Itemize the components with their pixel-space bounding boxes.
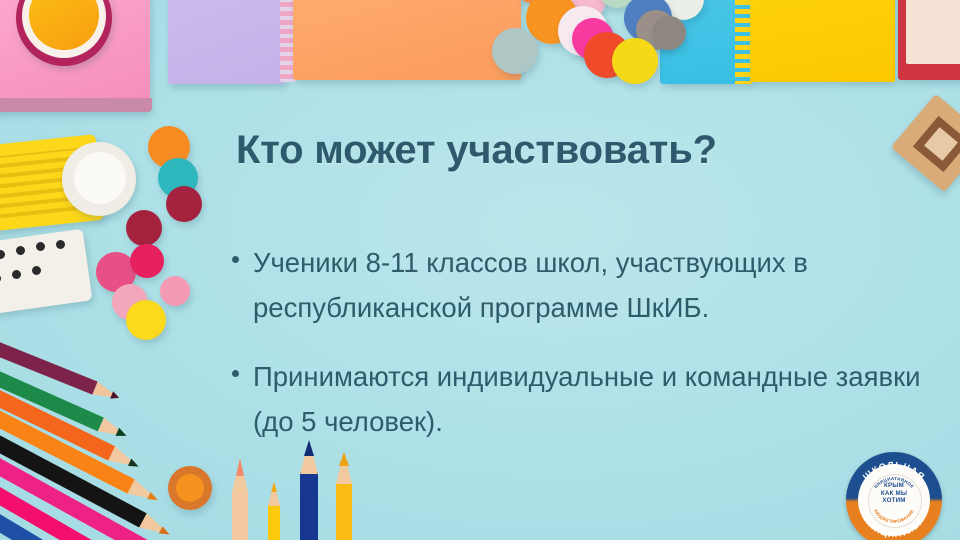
disc-crimson-left [130,244,164,278]
disc-orange-left [148,126,190,168]
cup-rim [22,0,106,58]
yellow-tray-ridges [0,147,93,219]
disc-sage [492,28,538,74]
list-item: Принимаются индивидуальные и командные з… [232,354,932,444]
disc-orange-small [516,0,552,4]
logo-center-text: КРЫМ КАК МЫ ХОТИМ [846,482,942,505]
disc-lightpink-left [112,284,148,320]
disc-mint [598,0,636,8]
disc-offwhite [662,0,704,20]
svg-text:БЮДЖЕТИРОВАНИЕ: БЮДЖЕТИРОВАНИЕ [873,508,915,524]
cyan-notebook [660,0,752,84]
red-framed-card [898,0,960,80]
list-item-text: Ученики 8-11 классов школ, участвующих в… [253,240,932,330]
disc-maroon-left-2 [126,210,162,246]
logo-center-line-1: КРЫМ [846,482,942,490]
svg-text:ИНИЦИАТИВА: ИНИЦИАТИВА [862,515,927,540]
logo-center-line-3: ХОТИМ [846,497,942,505]
disc-rose-left [160,276,190,306]
orange-notebook [293,0,521,80]
paint-pot-outer [168,466,212,510]
pink-spiral-binding [280,0,296,82]
white-jar [62,142,136,216]
egg-tray-dot [56,240,65,249]
disc-white-green [556,0,596,6]
disc-yellow [612,38,658,84]
list-item: Ученики 8-11 классов школ, участвующих в… [232,240,932,330]
disc-teal-left [158,158,198,198]
purple-notebook [168,0,286,84]
white-jar-lid [74,152,126,204]
list-item-text: Принимаются индивидуальные и командные з… [253,354,932,444]
yellow-tray [0,134,104,232]
disc-orange [526,0,578,44]
disc-white-pink [558,6,608,56]
yellow-spiral-binding [735,0,752,84]
logo-center-line-2: КАК МЫ [846,490,942,498]
organization-logo: ШКОЛЬНАЯ ИНИЦИАТИВА ИНИЦИАТИВНОЕ БЮДЖЕТИ… [846,452,942,540]
disc-red [584,32,630,78]
cup-orange-drink [29,0,99,50]
disc-pink-left [96,252,136,292]
egg-tray-dot [12,270,21,279]
disc-grey-2 [652,16,686,50]
cream-card-inner [906,0,960,64]
bullet-list: Ученики 8-11 классов школ, участвующих в… [232,240,932,468]
yellow-notebook [750,0,895,82]
egg-tray-dot [36,242,45,251]
pink-notebook-edge [0,98,152,112]
egg-tray-dot [0,274,1,283]
page-title: Кто может участвовать? [236,128,936,173]
presentation-slide: Кто может участвовать? Ученики 8-11 клас… [0,0,960,540]
disc-pink-pale [566,0,606,20]
cup-outer [16,0,112,66]
egg-tray-dot [0,250,5,259]
bullet-point-icon [232,370,239,377]
disc-maroon-left [166,186,202,222]
egg-tray-dot [16,246,25,255]
logo-inner-arc-bottom: БЮДЖЕТИРОВАНИЕ [873,508,915,524]
logo-arc-bottom: ИНИЦИАТИВА [862,515,927,540]
egg-tray [0,229,92,316]
bullet-point-icon [232,256,239,263]
pink-notebook [0,0,150,112]
disc-blue [624,0,672,42]
disc-grey [636,10,676,50]
disc-yellow-left [126,300,166,340]
disc-magenta [572,18,614,60]
paint-pot-orange [176,474,204,502]
egg-tray-dot [32,266,41,275]
